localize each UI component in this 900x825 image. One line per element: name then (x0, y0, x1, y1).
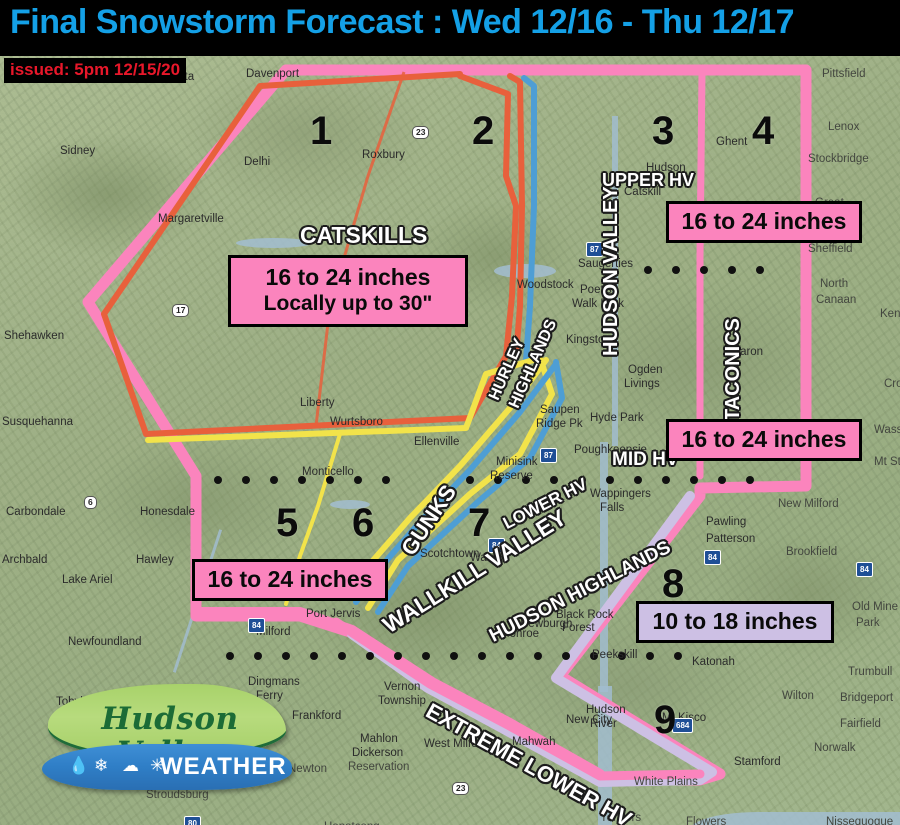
place-label: White Plains (634, 776, 698, 788)
place-label: Wurtsboro (330, 416, 383, 428)
place-label: Frankford (292, 710, 341, 722)
place-label: Patterson (706, 533, 755, 545)
callout-lower-hv: 10 to 18 inches (636, 601, 834, 643)
place-label: Vernon (384, 681, 420, 693)
callout-upper-hv: 16 to 24 inches (666, 201, 862, 243)
place-label: Wappingers (590, 488, 651, 500)
place-label: Shehawken (4, 330, 64, 342)
place-label: Falls (600, 502, 624, 514)
place-label: Monticello (302, 466, 354, 478)
place-label: Susquehanna (2, 416, 73, 428)
place-label: Ridge Pk (536, 418, 583, 430)
callout-catskills: 16 to 24 inches Locally up to 30" (228, 255, 468, 327)
place-label: Katonah (692, 656, 735, 668)
region-label-hudson-valley: HUDSON VALLEY (600, 186, 623, 356)
logo-weather-text: WEATHER (160, 754, 286, 780)
place-label: Hopatcong (324, 821, 380, 825)
interstate-shield-84-west: 84 (248, 618, 265, 633)
place-label: Ghent (716, 136, 747, 148)
place-label: Old Mine (852, 601, 898, 613)
place-label: Margaretville (158, 213, 224, 225)
place-label: Reservation (348, 761, 409, 773)
place-label: Saupen (540, 404, 580, 416)
region-label-taconics: TACONICS (722, 318, 745, 421)
place-label: Pawling (706, 516, 746, 528)
place-label: Kent (880, 308, 900, 320)
callout-lower-hv-line1: 10 to 18 inches (644, 607, 826, 635)
place-label: Reserve (490, 470, 533, 482)
callout-catskills-line2: Locally up to 30" (237, 291, 459, 317)
boundary-blue-upper-hudson (524, 78, 534, 360)
place-label: Wassaic (874, 424, 900, 436)
callout-mid-hv: 16 to 24 inches (666, 419, 862, 461)
place-label: Dickerson (352, 747, 403, 759)
title-bar: Final Snowstorm Forecast : Wed 12/16 - T… (0, 0, 900, 56)
callout-mid-hv-line1: 16 to 24 inches (674, 425, 854, 453)
zone-number-4: 4 (752, 111, 774, 151)
place-label: Delhi (244, 156, 270, 168)
zone-number-9: 9 (654, 700, 676, 740)
route-shield-17: 17 (172, 304, 189, 317)
place-label: Carbondale (6, 506, 65, 518)
callout-catskills-line1: 16 to 24 inches (237, 263, 459, 291)
zone-number-6: 6 (352, 503, 374, 543)
callout-wallkill-line1: 16 to 24 inches (200, 565, 380, 593)
issued-stamp: issued: 5pm 12/15/20 (4, 58, 186, 83)
place-label: Roxbury (362, 149, 405, 161)
place-label: Mahlon (360, 733, 398, 745)
place-label: Stamford (734, 756, 781, 768)
place-label: Lenox (828, 121, 859, 133)
place-label: Archbald (2, 554, 47, 566)
place-label: Newfoundland (68, 636, 142, 648)
interstate-shield-84-far-east: 84 (856, 562, 873, 577)
route-shield-23: 23 (412, 126, 429, 139)
place-label: Township (378, 695, 426, 707)
place-label: Port Jervis (306, 608, 360, 620)
place-label: Peekskill (592, 649, 637, 661)
page-title: Final Snowstorm Forecast : Wed 12/16 - T… (10, 3, 900, 42)
place-label: Lake Ariel (62, 574, 113, 586)
callout-upper-hv-line1: 16 to 24 inches (674, 207, 854, 235)
place-label: Brookfield (786, 546, 837, 558)
zone-number-5: 5 (276, 503, 298, 543)
place-label: Pittsfield (822, 68, 865, 80)
hudson-valley-weather-logo: Hudson Valley 💧 ❄ ☁ ✳ WEATHER (42, 680, 294, 800)
zone-number-1: 1 (310, 111, 332, 151)
place-label: Minisink (496, 456, 538, 468)
place-label: New Milford (778, 498, 839, 510)
region-label-catskills: CATSKILLS (300, 222, 427, 249)
zone-number-3: 3 (652, 111, 674, 151)
place-label: Bridgeport (840, 692, 893, 704)
place-label: Stockbridge (808, 153, 869, 165)
boundary-pink-hudson-valley (700, 72, 702, 476)
place-label: Hyde Park (590, 412, 644, 424)
route-shield-23-south: 23 (452, 782, 469, 795)
place-label: Flowers (686, 816, 726, 825)
place-label: Honesdale (140, 506, 195, 518)
route-shield-6: 6 (84, 496, 97, 509)
place-label: Davenport (246, 68, 299, 80)
place-label: Fairfield (840, 718, 881, 730)
map-canvas: DavenportPittsfieldSidneyDelhiRoxburyLen… (0, 56, 900, 825)
place-label: Wilton (782, 690, 814, 702)
place-label: Woodstock (517, 279, 574, 291)
interstate-shield-87-mid: 87 (540, 448, 557, 463)
place-label: Croton (884, 378, 900, 390)
place-label: Liberty (300, 397, 335, 409)
place-label: Canaan (816, 294, 856, 306)
interstate-shield-80: 80 (184, 816, 201, 825)
forecast-map-screenshot: Final Snowstorm Forecast : Wed 12/16 - T… (0, 0, 900, 825)
dotted-county-line-upper (644, 266, 764, 274)
place-label: Ellenville (414, 436, 459, 448)
zone-number-7: 7 (468, 503, 490, 543)
place-label: Livings (624, 378, 660, 390)
cloud-icon: ☁ (122, 757, 139, 774)
raindrop-icon: 💧 (68, 757, 89, 774)
place-label: Park (856, 617, 880, 629)
place-label: Norwalk (814, 742, 856, 754)
place-label: North (820, 278, 848, 290)
place-label: Ogden (628, 364, 663, 376)
place-label: Mt Sterling (874, 456, 900, 468)
snowflake-icon: ❄ (94, 757, 108, 774)
place-label: Hawley (136, 554, 174, 566)
place-label: Trumbull (848, 666, 892, 678)
place-label: Sidney (60, 145, 95, 157)
zone-number-8: 8 (662, 564, 684, 604)
zone-number-2: 2 (472, 111, 494, 151)
place-label: Sheffield (808, 243, 853, 255)
place-label: Nissequogue (826, 816, 893, 825)
interstate-shield-84-east: 84 (704, 550, 721, 565)
callout-wallkill: 16 to 24 inches (192, 559, 388, 601)
place-label: New City (566, 714, 612, 726)
